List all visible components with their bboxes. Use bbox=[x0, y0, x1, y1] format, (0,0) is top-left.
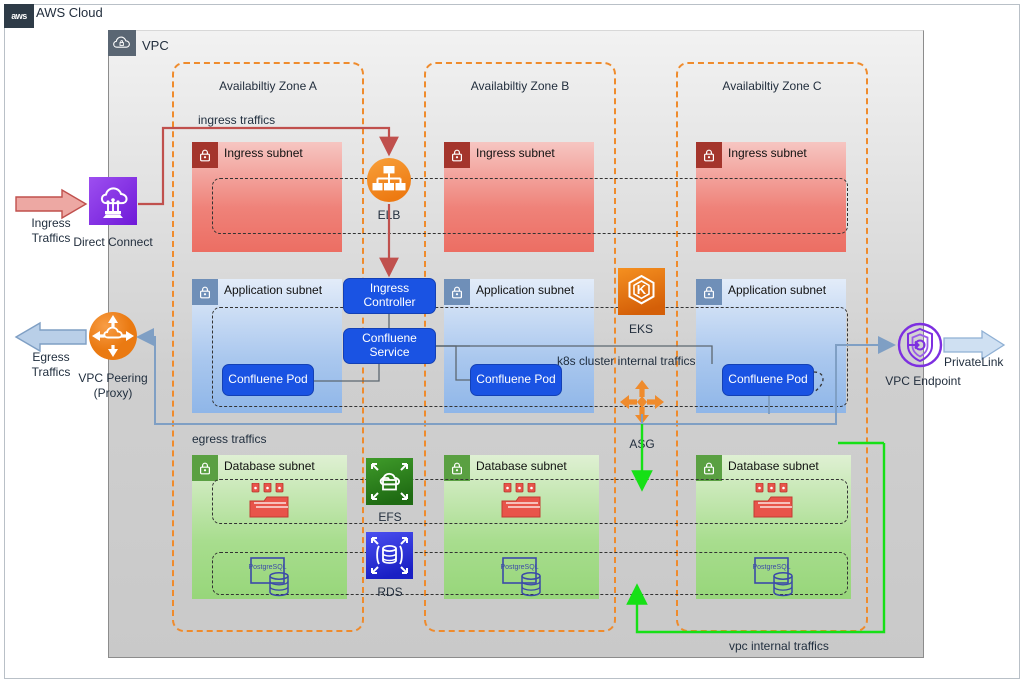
asg-glyph bbox=[619, 379, 665, 425]
elb-icon[interactable] bbox=[366, 157, 412, 208]
lock-glyph bbox=[702, 285, 716, 300]
lock-icon bbox=[696, 455, 722, 481]
confluence-service-label-line2: Service bbox=[369, 346, 409, 360]
availability-zone-c-label: Availabiltiy Zone C bbox=[676, 79, 868, 93]
egress-traffics-label: egress traffics bbox=[192, 432, 266, 446]
ingress-tier-group bbox=[212, 178, 848, 234]
svg-text:K: K bbox=[637, 282, 647, 297]
postgresql-icon-a: PostgreSQL bbox=[249, 556, 305, 605]
vpc-label: VPC bbox=[142, 38, 169, 53]
rds-label: RDS bbox=[350, 585, 430, 599]
confluence-pod-c-label: Confluene Pod bbox=[728, 373, 807, 387]
confluence-pod-a-label: Confluene Pod bbox=[228, 373, 307, 387]
k8s-internal-traffics-label: k8s cluster internal traffics bbox=[557, 354, 696, 368]
lock-icon bbox=[444, 279, 470, 305]
application-subnet-b-label: Application subnet bbox=[476, 283, 574, 297]
postgresql-glyph: PostgreSQL bbox=[501, 556, 557, 600]
confluence-service-node[interactable]: Confluene Service bbox=[343, 328, 436, 364]
elb-label: ELB bbox=[349, 208, 429, 222]
ingress-subnet-a-label: Ingress subnet bbox=[224, 146, 303, 160]
efs-file-stack-b bbox=[494, 483, 554, 530]
vpc-peering-glyph bbox=[88, 311, 138, 361]
vpc-endpoint-glyph bbox=[897, 322, 943, 368]
confluence-pod-a[interactable]: Confluene Pod bbox=[222, 364, 314, 396]
lock-glyph bbox=[198, 285, 212, 300]
aws-logo-icon: aws bbox=[4, 4, 34, 28]
svg-text:PostgreSQL: PostgreSQL bbox=[249, 564, 287, 571]
vpc-peering-label-line2: (Proxy) bbox=[63, 386, 163, 400]
efs-file-stack-icon bbox=[242, 483, 302, 525]
postgresql-icon-b: PostgreSQL bbox=[501, 556, 557, 605]
ingress-traffics-label: ingress traffics bbox=[198, 113, 275, 127]
aws-logo-text: aws bbox=[11, 11, 27, 21]
efs-glyph bbox=[366, 458, 413, 505]
eks-label: EKS bbox=[601, 322, 681, 336]
efs-label: EFS bbox=[350, 510, 430, 524]
lock-icon bbox=[192, 455, 218, 481]
asg-label: ASG bbox=[602, 437, 682, 451]
vpc-endpoint-icon[interactable] bbox=[897, 322, 943, 373]
architecture-diagram: aws AWS Cloud VPC Availabiltiy Zone A Av… bbox=[0, 0, 1024, 683]
ingress-traffics-external-label-line1: Ingress bbox=[12, 216, 90, 230]
ingress-traffics-external-label-line2: Traffics bbox=[12, 231, 90, 245]
vpc-internal-traffics-label: vpc internal traffics bbox=[729, 639, 829, 653]
lock-icon bbox=[192, 142, 218, 168]
database-subnet-b-label: Database subnet bbox=[476, 459, 567, 473]
lock-glyph bbox=[702, 461, 716, 476]
aws-cloud-label: AWS Cloud bbox=[36, 5, 103, 20]
application-subnet-c-label: Application subnet bbox=[728, 283, 826, 297]
lock-icon bbox=[696, 142, 722, 168]
availability-zone-a-label: Availabiltiy Zone A bbox=[172, 79, 364, 93]
egress-traffics-external-label-line2: Traffics bbox=[12, 365, 90, 379]
vpc-cloud-icon bbox=[108, 30, 136, 56]
ingress-controller-label-line2: Controller bbox=[363, 296, 415, 310]
egress-traffics-external-label-line1: Egress bbox=[12, 350, 90, 364]
postgresql-glyph: PostgreSQL bbox=[753, 556, 809, 600]
lock-glyph bbox=[198, 148, 212, 163]
ingress-controller-label-line1: Ingress bbox=[370, 282, 409, 296]
confluence-pod-c[interactable]: Confluene Pod bbox=[722, 364, 814, 396]
confluence-pod-b[interactable]: Confluene Pod bbox=[470, 364, 562, 396]
private-link-label: PrivateLink bbox=[944, 355, 1003, 369]
rds-glyph bbox=[366, 532, 413, 579]
efs-icon[interactable] bbox=[366, 458, 413, 510]
ingress-subnet-b-label: Ingress subnet bbox=[476, 146, 555, 160]
eks-glyph: K bbox=[618, 268, 665, 315]
lock-icon bbox=[444, 455, 470, 481]
direct-connect-icon[interactable] bbox=[89, 177, 137, 230]
database-subnet-a-label: Database subnet bbox=[224, 459, 315, 473]
efs-file-stack-c bbox=[746, 483, 806, 530]
direct-connect-glyph bbox=[89, 177, 137, 225]
efs-file-stack-a bbox=[242, 483, 302, 530]
vpc-endpoint-label: VPC Endpoint bbox=[876, 374, 970, 388]
confluence-pod-b-label: Confluene Pod bbox=[476, 373, 555, 387]
lock-glyph bbox=[198, 461, 212, 476]
confluence-service-label-line1: Confluene bbox=[362, 332, 417, 346]
elb-glyph bbox=[366, 157, 412, 203]
application-subnet-a-label: Application subnet bbox=[224, 283, 322, 297]
lock-glyph bbox=[450, 461, 464, 476]
vpc-cloud-glyph bbox=[113, 35, 131, 51]
lock-glyph bbox=[702, 148, 716, 163]
lock-glyph bbox=[450, 285, 464, 300]
lock-icon bbox=[444, 142, 470, 168]
lock-icon bbox=[192, 279, 218, 305]
database-subnet-c-label: Database subnet bbox=[728, 459, 819, 473]
vpc-peering-icon[interactable] bbox=[88, 311, 138, 366]
eks-icon[interactable]: K bbox=[618, 268, 665, 320]
svg-text:PostgreSQL: PostgreSQL bbox=[501, 564, 539, 571]
ingress-controller-node[interactable]: Ingress Controller bbox=[343, 278, 436, 314]
lock-icon bbox=[696, 279, 722, 305]
lock-glyph bbox=[450, 148, 464, 163]
ingress-subnet-c-label: Ingress subnet bbox=[728, 146, 807, 160]
svg-text:PostgreSQL: PostgreSQL bbox=[753, 564, 791, 571]
auto-scaling-group-icon[interactable] bbox=[619, 379, 665, 430]
rds-icon[interactable] bbox=[366, 532, 413, 584]
efs-file-stack-icon bbox=[494, 483, 554, 525]
availability-zone-b-label: Availabiltiy Zone B bbox=[424, 79, 616, 93]
postgresql-glyph: PostgreSQL bbox=[249, 556, 305, 600]
postgresql-icon-c: PostgreSQL bbox=[753, 556, 809, 605]
efs-file-stack-icon bbox=[746, 483, 806, 525]
